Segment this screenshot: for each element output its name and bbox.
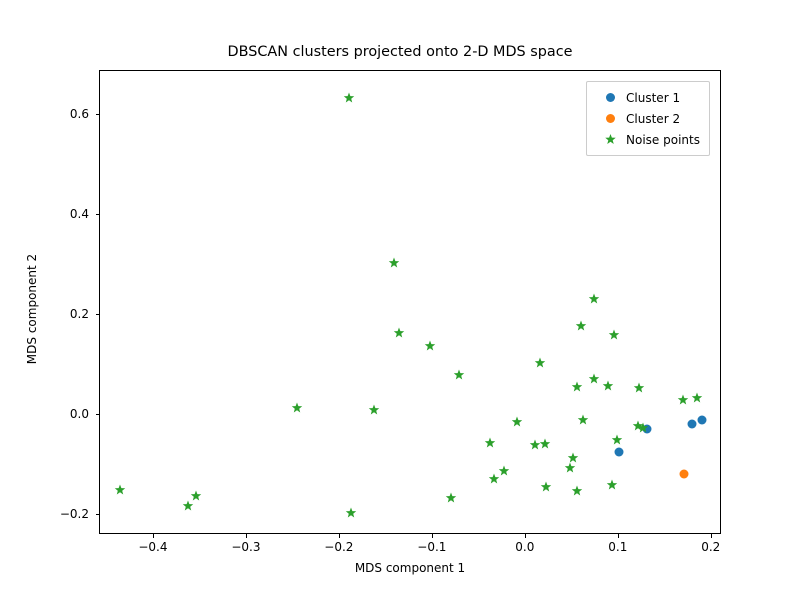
- y-axis-tick-label: 0.6: [70, 107, 89, 121]
- legend-entry-label: Cluster 1: [626, 91, 680, 105]
- plot-axes-area: Cluster 1Cluster 2Noise points: [99, 70, 721, 534]
- legend-entry-label: Noise points: [626, 133, 700, 147]
- y-axis-tick: [96, 414, 100, 415]
- data-point: [609, 329, 620, 340]
- data-point: [394, 328, 405, 339]
- data-point: [611, 434, 622, 445]
- point-dot: [614, 448, 623, 457]
- y-axis-tick-label: −0.2: [60, 507, 89, 521]
- data-point: [540, 438, 551, 449]
- x-axis-tick-label: 0.1: [608, 540, 627, 554]
- x-axis-tick-label: −0.4: [138, 540, 167, 554]
- x-axis-tick: [711, 534, 712, 538]
- x-axis-tick-label: 0.2: [701, 540, 720, 554]
- point-dot: [688, 420, 697, 429]
- x-axis-tick-label: −0.3: [231, 540, 260, 554]
- data-point: [183, 501, 194, 512]
- data-point: [530, 440, 541, 451]
- data-point: [564, 462, 575, 473]
- star-icon: [594, 129, 626, 150]
- circle-icon: [594, 87, 626, 108]
- data-point: [637, 423, 648, 434]
- x-axis-tick-label: 0.0: [515, 540, 534, 554]
- data-point: [499, 466, 510, 477]
- data-point: [346, 508, 357, 519]
- data-point: [634, 383, 645, 394]
- data-point: [388, 257, 399, 268]
- data-point: [679, 470, 688, 479]
- data-point: [575, 321, 586, 332]
- x-axis-tick: [246, 534, 247, 538]
- x-axis-tick: [618, 534, 619, 538]
- data-point: [688, 420, 697, 429]
- data-point: [489, 474, 500, 485]
- point-dot: [697, 416, 706, 425]
- legend-entry[interactable]: Noise points: [594, 129, 700, 150]
- data-point: [190, 490, 201, 501]
- chart-title: DBSCAN clusters projected onto 2-D MDS s…: [0, 44, 800, 60]
- data-point: [425, 341, 436, 352]
- chart-legend[interactable]: Cluster 1Cluster 2Noise points: [586, 81, 710, 156]
- data-point: [369, 404, 380, 415]
- y-axis-tick: [96, 114, 100, 115]
- y-axis-label: MDS component 2: [25, 249, 39, 369]
- legend-entry-label: Cluster 2: [626, 112, 680, 126]
- legend-entry[interactable]: Cluster 2: [594, 108, 700, 129]
- data-point: [541, 481, 552, 492]
- data-point: [607, 479, 618, 490]
- x-axis-tick-label: −0.1: [417, 540, 446, 554]
- data-point: [511, 416, 522, 427]
- data-point: [344, 93, 355, 104]
- data-point: [691, 393, 702, 404]
- data-point: [588, 374, 599, 385]
- y-axis-tick-label: 0.0: [70, 407, 89, 421]
- y-axis-tick-label: 0.4: [70, 207, 89, 221]
- matplotlib-figure: DBSCAN clusters projected onto 2-D MDS s…: [0, 0, 800, 600]
- y-axis-tick: [96, 214, 100, 215]
- x-axis-tick: [153, 534, 154, 538]
- data-point: [453, 369, 464, 380]
- data-point: [697, 416, 706, 425]
- data-point: [677, 394, 688, 405]
- data-point: [292, 403, 303, 414]
- x-axis-label: MDS component 1: [99, 561, 721, 575]
- data-point: [588, 293, 599, 304]
- data-point: [484, 437, 495, 448]
- x-axis-tick: [339, 534, 340, 538]
- x-axis-tick: [432, 534, 433, 538]
- x-axis-tick-label: −0.2: [324, 540, 353, 554]
- data-point: [571, 485, 582, 496]
- data-point: [578, 414, 589, 425]
- y-axis-tick-label: 0.2: [70, 307, 89, 321]
- y-axis-tick: [96, 314, 100, 315]
- y-axis-tick: [96, 514, 100, 515]
- point-dot: [679, 470, 688, 479]
- data-point: [114, 485, 125, 496]
- circle-icon: [594, 108, 626, 129]
- data-point: [534, 358, 545, 369]
- x-axis-tick: [525, 534, 526, 538]
- legend-entry[interactable]: Cluster 1: [594, 87, 700, 108]
- data-point: [602, 380, 613, 391]
- data-point: [571, 381, 582, 392]
- data-point: [445, 492, 456, 503]
- data-point: [614, 448, 623, 457]
